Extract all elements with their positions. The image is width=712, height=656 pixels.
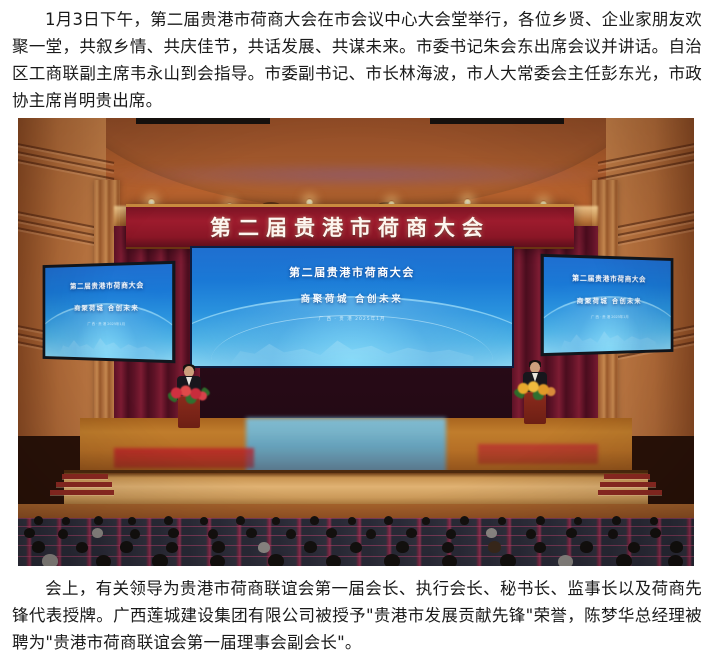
led-screen-right: 第二届贵港市荷商大会 商聚荷城 合创未来 广 西 · 贵 港 2025年1月 — [541, 254, 674, 357]
audience-head — [348, 517, 356, 525]
stage-floor-led-reflection — [246, 418, 446, 474]
stage-step — [56, 482, 112, 487]
audience-head — [24, 528, 35, 538]
led-screen-left: 第二届贵港市荷商大会 商聚荷城 合创未来 广 西 · 贵 港 2025年1月 — [43, 261, 176, 364]
audience-head — [92, 528, 103, 538]
led-subtitle-center: 商聚荷城 合创未来 — [192, 291, 512, 305]
stage-floor-red-carpet-right — [478, 444, 598, 464]
audience-head — [94, 516, 103, 525]
stage-floor-red-carpet-left — [114, 448, 254, 468]
led-background — [45, 264, 172, 360]
audience-head — [34, 516, 43, 525]
audience-head — [58, 529, 68, 539]
audience-head — [268, 554, 284, 566]
led-footer-center: 广 西 · 贵 港 2025年1月 — [192, 316, 512, 322]
led-background — [544, 257, 671, 353]
audience-head — [406, 528, 417, 538]
ceiling-panel-right — [430, 118, 564, 124]
audience-head — [166, 542, 178, 553]
ceiling-panel-left — [136, 118, 270, 124]
audience-head — [62, 517, 70, 525]
stage-banner: 第二届贵港市荷商大会 — [126, 204, 574, 249]
audience-head — [366, 529, 376, 539]
audience-head — [350, 542, 362, 553]
audience-seating — [18, 504, 694, 566]
audience-head — [210, 555, 225, 566]
audience-head — [566, 528, 577, 538]
podium-left — [168, 366, 210, 428]
audience-head — [460, 516, 469, 525]
audience-head — [536, 516, 545, 525]
led-title-center: 第二届贵港市荷商大会 — [192, 264, 512, 280]
audience-head — [670, 541, 683, 553]
audience-head — [286, 529, 296, 539]
led-title-right: 第二届贵港市荷商大会 — [544, 273, 671, 285]
article-page: 1月3日下午，第二届贵港市荷商大会在市会议中心大会堂举行，各位乡贤、企业家朋友欢… — [0, 0, 712, 656]
audience-head — [208, 529, 218, 539]
article-paragraph-2: 会上，有关领导为贵港市荷商联谊会第一届会长、执行会长、秘书长、监事长以及荷商先锋… — [12, 575, 702, 656]
audience-head — [488, 541, 501, 553]
audience-head — [96, 555, 111, 566]
audience-head — [310, 516, 319, 525]
stage-step — [604, 474, 650, 479]
stage-step — [50, 490, 114, 495]
audience-head — [498, 517, 506, 525]
audience-head — [616, 554, 632, 566]
audience-head — [668, 555, 683, 566]
podium-right — [514, 362, 556, 428]
seat-row — [18, 556, 694, 566]
audience-head — [236, 516, 245, 525]
audience-head — [422, 517, 430, 525]
podium-flowers-red — [168, 384, 210, 404]
led-subtitle-right: 商聚荷城 合创未来 — [544, 295, 671, 305]
audience-head — [384, 554, 400, 566]
audience-head — [164, 516, 173, 525]
audience-head — [446, 529, 456, 539]
audience-head — [42, 554, 58, 566]
audience-head — [168, 528, 179, 538]
paragraph-1-text: 1月3日下午，第二届贵港市荷商大会在市会议中心大会堂举行，各位乡贤、企业家朋友欢… — [12, 10, 702, 110]
audience-head — [500, 554, 516, 566]
audience-head — [258, 542, 270, 553]
audience-head — [534, 542, 546, 553]
audience-head — [612, 516, 621, 525]
audience-head — [580, 541, 593, 553]
audience-head — [526, 529, 536, 539]
audience-head — [272, 517, 280, 525]
audience-head — [486, 528, 497, 538]
audience-head — [76, 542, 88, 553]
stage-step — [62, 474, 108, 479]
audience-head — [574, 517, 582, 525]
podium-flowers-yellow — [514, 380, 556, 400]
audience-head — [650, 517, 658, 525]
audience-head — [212, 541, 225, 553]
audience-head — [442, 555, 457, 566]
audience-head — [128, 517, 136, 525]
audience-head — [152, 554, 168, 566]
audience-head — [304, 541, 317, 553]
audience-head — [442, 542, 454, 553]
audience-head — [558, 555, 573, 566]
audience-head — [200, 517, 208, 525]
stage-step — [600, 482, 656, 487]
audience-head — [130, 529, 140, 539]
article-paragraph-1: 1月3日下午，第二届贵港市荷商大会在市会议中心大会堂举行，各位乡贤、企业家朋友欢… — [12, 6, 702, 114]
audience-head — [120, 541, 133, 553]
conference-photo: 第二届贵港市荷商大会 第二届贵港市荷商大会 商聚荷城 合创未来 广 西 · 贵 … — [18, 118, 694, 566]
audience-head — [326, 555, 341, 566]
audience-head — [384, 516, 393, 525]
stage-front-wall — [64, 470, 648, 507]
stage-banner-text: 第二届贵港市荷商大会 — [210, 212, 490, 242]
led-screen-center: 第二届贵港市荷商大会 商聚荷城 合创未来 广 西 · 贵 港 2025年1月 — [190, 246, 514, 368]
led-subtitle-left: 商聚荷城 合创未来 — [45, 302, 172, 312]
paragraph-2-text: 会上，有关领导为贵港市荷商联谊会第一届会长、执行会长、秘书长、监事长以及荷商先锋… — [12, 579, 702, 652]
audience-head — [608, 529, 618, 539]
audience-head — [326, 528, 337, 538]
audience-head — [628, 542, 640, 553]
audience-head — [650, 528, 661, 538]
audience-head — [396, 541, 409, 553]
audience-hall — [18, 504, 694, 566]
audience-head — [32, 541, 45, 553]
led-title-left: 第二届贵港市荷商大会 — [45, 280, 172, 292]
audience-head — [246, 528, 257, 538]
stage-step — [598, 490, 662, 495]
ceiling-light-haze — [88, 162, 628, 188]
